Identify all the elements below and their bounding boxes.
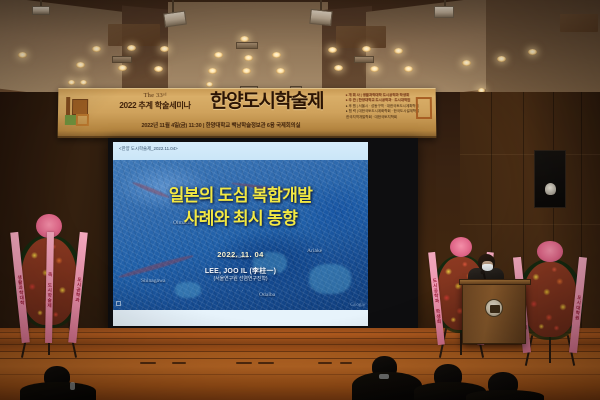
ceiling-vent <box>236 42 258 49</box>
banner-edition-label: The 33ʳᵈ <box>96 92 214 100</box>
ceiling-downlight <box>528 49 537 55</box>
banner-seminar-label: 2022 추계 학술세미나 <box>96 100 214 111</box>
ceiling-bay-center <box>168 2 328 96</box>
ceiling-downlight <box>244 55 253 61</box>
ceiling-downlight <box>276 68 285 74</box>
ceiling-downlight <box>127 45 136 51</box>
map-scale-badge <box>116 301 121 306</box>
ceiling-projector <box>32 6 50 15</box>
slide-title-line-1: 일본의 도심 복합개발 <box>113 184 368 207</box>
ceiling-downlight <box>334 65 343 71</box>
map-watermark: Google <box>350 303 365 308</box>
ceiling-downlight <box>76 62 85 68</box>
auditorium-ceiling <box>0 0 600 95</box>
floor-marker <box>236 362 252 364</box>
slide-title: 일본의 도심 복합개발 사례와 최시 동향 <box>113 184 368 230</box>
floor-marker <box>258 362 274 364</box>
wall-loudspeaker <box>534 150 566 208</box>
ceiling-downlight <box>18 52 27 58</box>
ceiling-vent <box>112 56 132 63</box>
ceiling-panel-right <box>336 26 386 48</box>
ceiling-downlight <box>370 66 379 72</box>
hanyang-urban-festival-logo <box>64 95 94 129</box>
speaker-driver-icon <box>545 183 556 195</box>
floor-marker <box>318 362 332 364</box>
lectern-top <box>459 279 531 285</box>
banner-corner-decoration <box>416 97 432 119</box>
ceiling-downlight <box>208 68 217 74</box>
slide-affiliation: (서울연구원 선염연구진학) <box>113 275 368 282</box>
ceiling-downlight <box>362 46 371 52</box>
floor-marker <box>340 362 352 364</box>
banner-datetime: 2022년 11월 4일(금) 11:30 | 한양대학교 백남학술정보관 6융… <box>98 121 344 129</box>
floor-marker <box>140 362 156 364</box>
slide-date: 2022. 11. 04 <box>113 250 368 259</box>
projection-screen: <한양 도시학술제_2022.11.04> Shinagawa Tamachi … <box>108 138 418 328</box>
ceiling-downlight <box>497 56 506 62</box>
wreath-flowers <box>523 262 577 337</box>
ceiling-downlight <box>214 52 223 58</box>
ceiling-downlight <box>394 48 403 54</box>
wreath-ribbon-center: 축 도시학술제 <box>45 232 54 343</box>
event-banner: The 33ʳᵈ 2022 추계 학술세미나 한양도시학술제 2022년 11월… <box>58 88 437 138</box>
slide-title-line-2: 사례와 최시 동향 <box>113 207 368 230</box>
banner-left-text: The 33ʳᵈ 2022 추계 학술세미나 <box>96 92 214 111</box>
ceiling-panel-far-right <box>560 14 598 32</box>
ceiling-downlight <box>242 68 251 74</box>
university-emblem <box>485 299 503 317</box>
ceiling-downlight <box>68 80 75 85</box>
conference-hall-photo: The 33ʳᵈ 2022 추계 학술세미나 한양도시학술제 2022년 11월… <box>0 0 600 400</box>
flower-wreath-left: 생활과학대학 축 도시학술제 도시공학과 <box>6 208 92 358</box>
ceiling-vent <box>354 56 374 63</box>
ceiling-panel-left <box>108 24 160 46</box>
ceiling-downlight <box>92 46 101 52</box>
presentation-slide: <한양 도시학술제_2022.11.04> Shinagawa Tamachi … <box>113 142 368 326</box>
wreath-top-bow <box>450 237 472 257</box>
ceiling-downlight <box>160 46 169 52</box>
ceiling-downlight <box>328 47 337 53</box>
ceiling-downlight <box>154 66 163 72</box>
slide-footer-band <box>113 310 368 326</box>
slide-header-band: <한양 도시학술제_2022.11.04> <box>113 142 368 160</box>
ceiling-projector <box>309 9 332 26</box>
lectern <box>462 282 526 344</box>
slide-footer-dots: · · · · <box>113 288 368 293</box>
ceiling-downlight <box>118 65 127 71</box>
ceiling-downlight <box>462 60 471 66</box>
ceiling-downlight <box>206 82 213 87</box>
ceiling-projector <box>434 6 454 18</box>
ceiling-downlight <box>272 52 281 58</box>
floor-marker <box>172 362 186 364</box>
ceiling-downlight <box>80 80 87 85</box>
slide-header-text: <한양 도시학술제_2022.11.04> <box>119 146 178 152</box>
wreath-top-bow <box>537 241 562 262</box>
ceiling-downlight <box>404 66 413 72</box>
banner-main-title: 한양도시학술제 <box>210 90 342 114</box>
